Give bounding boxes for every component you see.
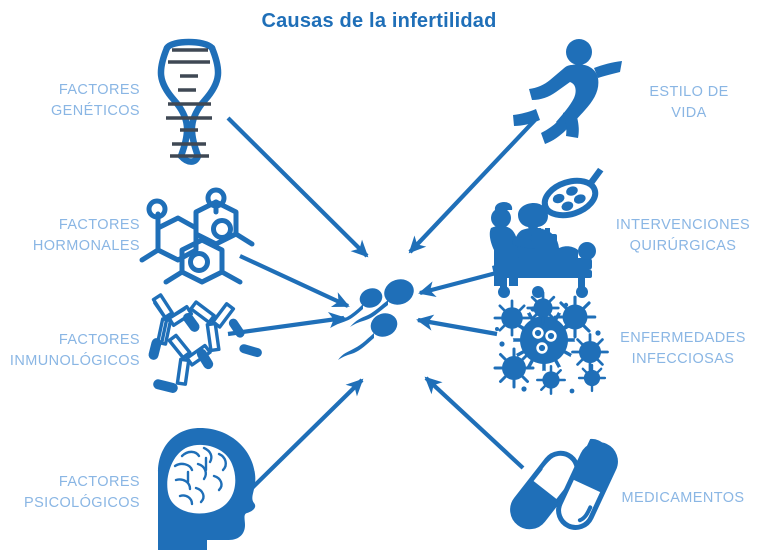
virus-icon bbox=[495, 293, 608, 394]
arrow-medicamentos-to-center bbox=[426, 378, 523, 468]
arrow-inmunologicos-to-center bbox=[228, 318, 344, 334]
molecule-icon bbox=[142, 190, 252, 282]
pills-icon bbox=[506, 437, 622, 534]
arrow-estilo-de-vida-to-center bbox=[410, 120, 535, 252]
arrow-geneticos-to-center bbox=[228, 118, 367, 256]
arrow-group bbox=[228, 118, 535, 492]
arrow-hormonales-to-center bbox=[240, 256, 348, 306]
arrow-quirurgicas-to-center bbox=[420, 272, 500, 293]
dna-icon bbox=[161, 42, 218, 162]
diagram-graphics bbox=[0, 0, 758, 550]
antibody-icon bbox=[145, 294, 263, 394]
sperm-cells-icon bbox=[332, 275, 417, 360]
surgery-icon bbox=[490, 167, 613, 298]
brain-head-icon bbox=[158, 428, 255, 550]
arrow-infecciosas-to-center bbox=[418, 320, 497, 334]
arrow-psicologicos-to-center bbox=[248, 380, 362, 492]
infographic-canvas: Causas de la infertilidad FACTORES GENÉT… bbox=[0, 0, 758, 550]
